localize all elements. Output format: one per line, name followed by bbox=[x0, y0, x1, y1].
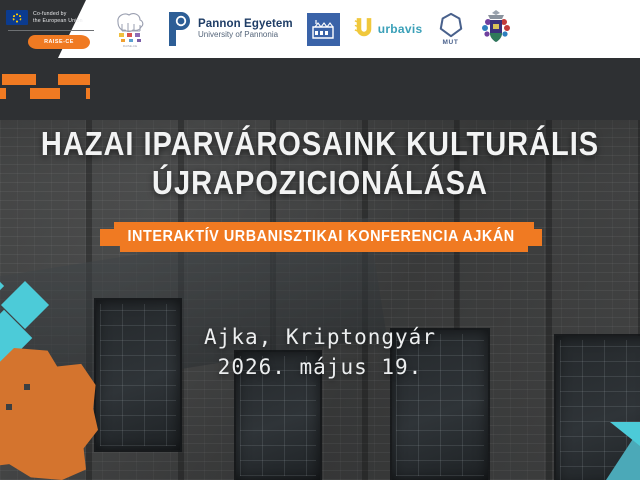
cyan-triangle-corner-decor bbox=[610, 422, 640, 446]
svg-text:RAISE-CE: RAISE-CE bbox=[123, 44, 137, 48]
pixel-block-decor bbox=[58, 74, 90, 85]
orange-blob-decor bbox=[0, 348, 98, 480]
city-coat-of-arms-logo bbox=[479, 9, 513, 49]
venue-date: 2026. május 19. bbox=[0, 352, 640, 382]
brain-network-logo: RAISE-CE bbox=[108, 9, 152, 49]
urbavis-logo: urbavis bbox=[354, 15, 423, 43]
blob-square-decor bbox=[6, 404, 12, 410]
headline-line-1: HAZAI IPARVÁROSAINK KULTURÁLIS bbox=[41, 125, 599, 162]
subtitle-banner: INTERAKTÍV URBANISZTIKAI KONFERENCIA AJK… bbox=[100, 222, 542, 252]
pixel-block-decor bbox=[2, 74, 36, 85]
raise-ce-badge: RAISE-CE bbox=[28, 35, 90, 49]
eu-flag-icon bbox=[6, 10, 28, 25]
venue-details: Ajka, Kriptongyár 2026. május 19. bbox=[0, 322, 640, 382]
eu-funding-line2: the European Union bbox=[33, 18, 83, 24]
eu-funding-block: Co-funded by the European Union RAISE-CE bbox=[6, 10, 98, 49]
conference-poster: RAISE-CE Pannon Egyetem University of Pa… bbox=[0, 0, 640, 480]
factory-building-logo bbox=[307, 13, 340, 46]
pannon-egyetem-subtitle: University of Pannonia bbox=[198, 30, 293, 40]
pannon-egyetem-logo: Pannon Egyetem University of Pannonia bbox=[166, 11, 293, 47]
headline-line-2: ÚJRAPOZICIONÁLÁSA bbox=[38, 163, 601, 202]
blob-square-decor bbox=[24, 384, 30, 390]
pixel-block-decor bbox=[0, 88, 6, 99]
pixel-block-decor bbox=[30, 88, 60, 99]
venue-place: Ajka, Kriptongyár bbox=[0, 322, 640, 352]
subtitle-banner-text: INTERAKTÍV URBANISZTIKAI KONFERENCIA AJK… bbox=[127, 228, 514, 246]
mut-logo: MUT bbox=[437, 12, 465, 46]
urbavis-wordmark: urbavis bbox=[378, 22, 423, 36]
mut-wordmark: MUT bbox=[443, 39, 459, 46]
pannon-egyetem-name: Pannon Egyetem bbox=[198, 18, 293, 30]
pixel-block-decor bbox=[86, 88, 90, 99]
page-title: HAZAI IPARVÁROSAINK KULTURÁLIS ÚJRAPOZIC… bbox=[38, 124, 601, 202]
pannon-egyetem-mark-icon bbox=[166, 11, 192, 47]
eu-divider bbox=[8, 30, 94, 31]
